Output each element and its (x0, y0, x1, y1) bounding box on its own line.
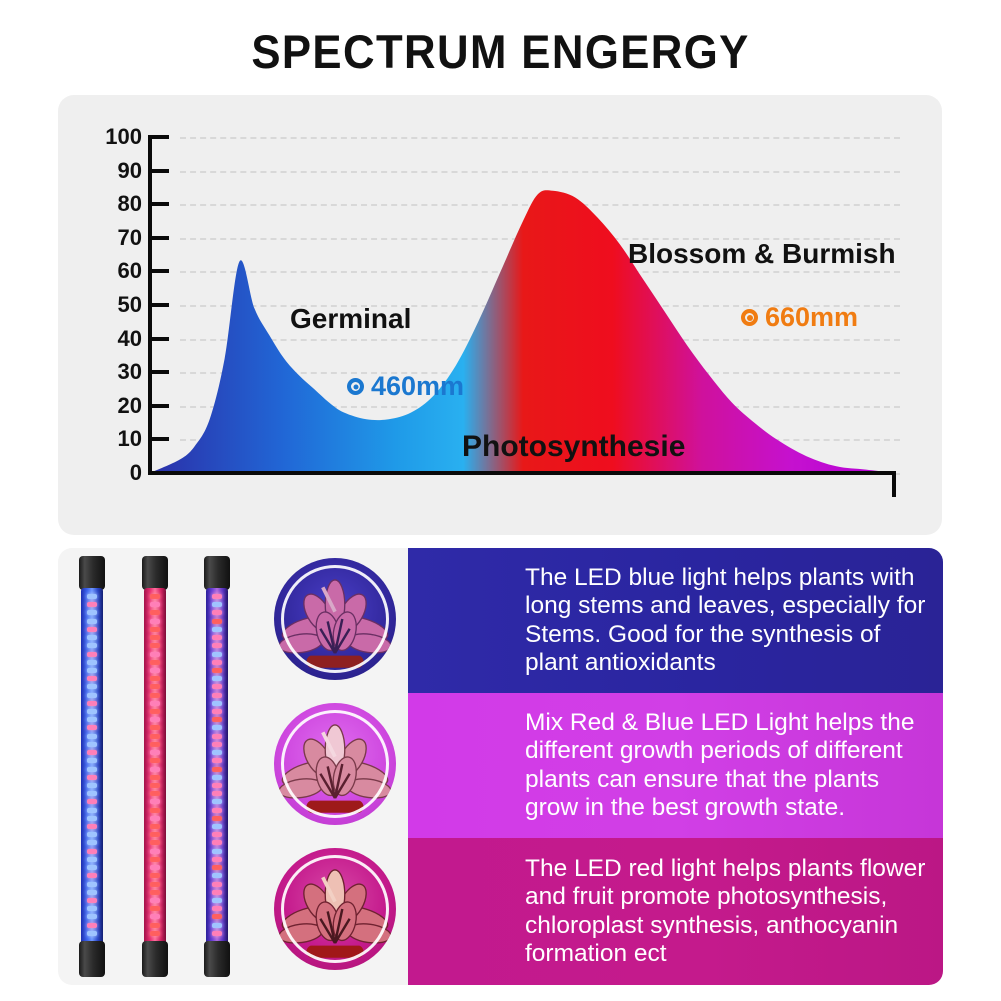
led-dot (212, 865, 222, 870)
led-dot (87, 923, 97, 928)
y-axis-label: 70 (90, 227, 142, 249)
plant-illustration (274, 848, 396, 970)
led-dot (87, 750, 97, 755)
tube-cap-bottom (79, 941, 105, 977)
led-dot (87, 775, 97, 780)
plant-thumbnail-blue (274, 558, 396, 680)
led-dot (150, 619, 160, 624)
peak-marker-460: 460mm (347, 373, 464, 400)
tube-leds (144, 588, 166, 945)
y-axis-label: 90 (90, 160, 142, 182)
led-dot (212, 643, 222, 648)
y-axis-label: 80 (90, 193, 142, 215)
led-dot (212, 808, 222, 813)
led-dot (150, 898, 160, 903)
led-dot (150, 816, 160, 821)
led-dot (150, 849, 160, 854)
led-dot (87, 791, 97, 796)
led-dot (212, 791, 222, 796)
led-dot (212, 758, 222, 763)
led-dot (87, 725, 97, 730)
annotation-germinal: Germinal (290, 305, 411, 333)
led-dot (150, 610, 160, 615)
led-dot (87, 914, 97, 919)
x-axis-line (148, 471, 896, 475)
led-dot (212, 783, 222, 788)
led-dot (150, 676, 160, 681)
led-dot (150, 775, 160, 780)
led-dot (150, 791, 160, 796)
led-dot (150, 668, 160, 673)
led-dot (150, 701, 160, 706)
led-dot (150, 873, 160, 878)
y-axis-label: 30 (90, 361, 142, 383)
led-dot (87, 643, 97, 648)
feature-panel-mixed-light: Mix Red & Blue LED Light helps the diffe… (408, 693, 943, 838)
led-dot (212, 816, 222, 821)
tube-body (81, 588, 103, 945)
feature-panel-red-light: The LED red light helps plants flower an… (408, 838, 943, 985)
led-dot (87, 767, 97, 772)
led-dot (212, 775, 222, 780)
led-dot (150, 923, 160, 928)
led-dot (212, 857, 222, 862)
y-axis-label: 40 (90, 328, 142, 350)
led-dot (212, 824, 222, 829)
led-dot (150, 693, 160, 698)
plant-thumbnail-red (274, 848, 396, 970)
led-dot (212, 914, 222, 919)
led-dot (150, 865, 160, 870)
led-dot (212, 660, 222, 665)
feature-panel-blue-light: The LED blue light helps plants with lon… (408, 548, 943, 693)
led-dot (150, 914, 160, 919)
feature-panels: The LED blue light helps plants with lon… (408, 548, 943, 985)
led-dot (212, 799, 222, 804)
led-dot (87, 734, 97, 739)
led-dot (87, 717, 97, 722)
led-dot (212, 906, 222, 911)
led-dot (87, 799, 97, 804)
led-dot (212, 734, 222, 739)
led-dot (150, 890, 160, 895)
y-axis-label: 20 (90, 395, 142, 417)
led-dot (150, 799, 160, 804)
led-dot (212, 594, 222, 599)
tube-leds (81, 588, 103, 945)
led-dot (87, 873, 97, 878)
led-dot (212, 840, 222, 845)
led-dot (212, 931, 222, 936)
tube-body (206, 588, 228, 945)
feature-panel-red-light-text: The LED red light helps plants flower an… (408, 855, 943, 969)
led-dot (150, 627, 160, 632)
led-dot (212, 890, 222, 895)
led-dot (87, 898, 97, 903)
led-dot (212, 701, 222, 706)
led-dot (150, 717, 160, 722)
tube-cap-bottom (204, 941, 230, 977)
led-dot (87, 684, 97, 689)
led-dot (87, 906, 97, 911)
tube-cap-top (142, 556, 168, 590)
led-dot (212, 849, 222, 854)
page-title: SPECTRUM ENGERGY (35, 24, 966, 79)
led-dot (87, 627, 97, 632)
led-dot (87, 742, 97, 747)
led-dot (87, 824, 97, 829)
infographic-root: SPECTRUM ENGERGY 0102030405060708090100 … (0, 0, 1001, 1001)
red-led-tube (142, 556, 168, 977)
led-dot (212, 767, 222, 772)
plant-thumbnail-mixed (274, 703, 396, 825)
led-dot (150, 734, 160, 739)
led-dot (87, 594, 97, 599)
led-dot (87, 635, 97, 640)
features-section: The LED blue light helps plants with lon… (58, 548, 943, 985)
led-dot (212, 627, 222, 632)
led-dot (87, 610, 97, 615)
led-dot (150, 684, 160, 689)
led-dot (212, 882, 222, 887)
led-dot (87, 849, 97, 854)
peak-marker-660: 660mm (741, 304, 858, 331)
led-dot (212, 709, 222, 714)
led-dot (212, 750, 222, 755)
tube-cap-bottom (142, 941, 168, 977)
led-dot (212, 619, 222, 624)
peak-marker-660-label: 660mm (765, 304, 858, 331)
led-dot (150, 643, 160, 648)
feature-panel-mixed-light-text: Mix Red & Blue LED Light helps the diffe… (408, 709, 943, 823)
y-axis-label: 60 (90, 260, 142, 282)
led-dot (150, 602, 160, 607)
led-dot (87, 865, 97, 870)
led-dot (87, 808, 97, 813)
led-dot (87, 832, 97, 837)
led-dot (212, 898, 222, 903)
led-dot (87, 701, 97, 706)
led-dot (87, 783, 97, 788)
led-dot (150, 931, 160, 936)
led-dot (87, 758, 97, 763)
led-dot (87, 602, 97, 607)
tube-leds (206, 588, 228, 945)
led-dot (212, 610, 222, 615)
led-dot (150, 750, 160, 755)
tube-body (144, 588, 166, 945)
y-axis-label: 10 (90, 428, 142, 450)
led-dot (150, 808, 160, 813)
led-dot (87, 676, 97, 681)
led-dot (87, 660, 97, 665)
led-dot (87, 652, 97, 657)
led-dot (212, 832, 222, 837)
led-dot (87, 931, 97, 936)
blue-led-tube (79, 556, 105, 977)
led-dot (212, 676, 222, 681)
led-dot (150, 652, 160, 657)
plant-illustration (274, 703, 396, 825)
tube-cap-top (204, 556, 230, 590)
led-dot (150, 824, 160, 829)
led-dot (87, 619, 97, 624)
spectrum-chart-card: 0102030405060708090100 Germinal Blossom … (58, 95, 942, 535)
led-dot (212, 923, 222, 928)
led-dot (150, 742, 160, 747)
annotation-blossom: Blossom & Burmish (628, 240, 896, 268)
led-dot (212, 602, 222, 607)
led-dot (87, 882, 97, 887)
led-dot (87, 857, 97, 862)
led-dot (150, 783, 160, 788)
led-dot (150, 857, 160, 862)
led-dot (150, 709, 160, 714)
x-axis-end-tick (892, 471, 896, 497)
led-dot (212, 873, 222, 878)
led-dot (212, 684, 222, 689)
y-axis-label: 100 (90, 126, 142, 148)
led-dot (212, 652, 222, 657)
peak-marker-460-label: 460mm (371, 373, 464, 400)
annotation-photosynthesie: Photosynthesie (462, 432, 685, 462)
led-dot (150, 725, 160, 730)
tube-cap-top (79, 556, 105, 590)
led-dot (87, 890, 97, 895)
feature-panel-blue-light-text: The LED blue light helps plants with lon… (408, 564, 943, 678)
led-dot (150, 594, 160, 599)
circle-dot-icon (347, 378, 364, 395)
led-dot (150, 832, 160, 837)
led-dot (150, 767, 160, 772)
led-dot (212, 635, 222, 640)
led-dot (87, 693, 97, 698)
led-dot (87, 709, 97, 714)
led-dot (150, 882, 160, 887)
y-axis-label: 0 (90, 462, 142, 484)
led-dot (212, 693, 222, 698)
led-dot (87, 668, 97, 673)
led-dot (87, 840, 97, 845)
mixed-led-tube (204, 556, 230, 977)
plant-illustration (274, 558, 396, 680)
led-dot (212, 742, 222, 747)
circle-dot-icon (741, 309, 758, 326)
led-dot (150, 906, 160, 911)
led-dot (150, 758, 160, 763)
led-dot (212, 725, 222, 730)
led-dot (87, 816, 97, 821)
led-dot (150, 635, 160, 640)
led-dot (150, 840, 160, 845)
y-axis-label: 50 (90, 294, 142, 316)
led-dot (150, 660, 160, 665)
led-dot (212, 717, 222, 722)
led-dot (212, 668, 222, 673)
